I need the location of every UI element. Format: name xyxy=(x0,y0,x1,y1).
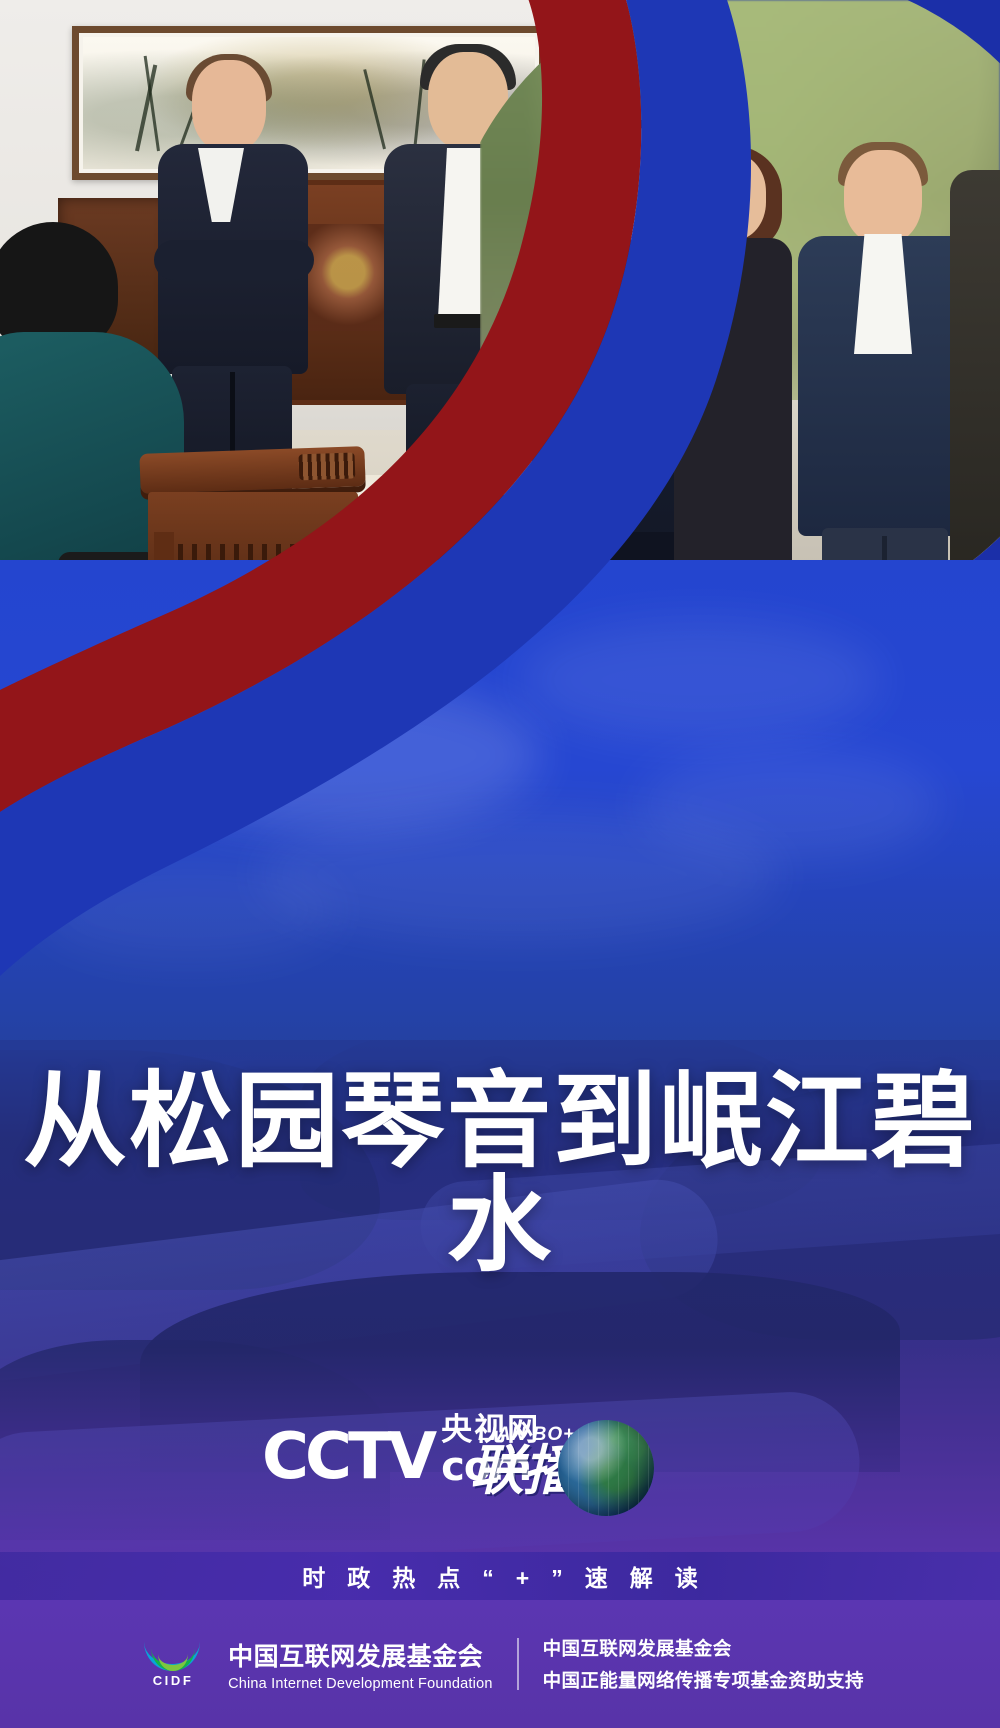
footer-bar: CIDF 中国互联网发展基金会 China Internet Developme… xyxy=(0,1600,1000,1728)
guqin-tuning-pegs xyxy=(298,452,355,480)
globe-meridian-lines xyxy=(558,1420,654,1516)
page-title: 从松园琴音到岷江碧水 xyxy=(0,1070,1000,1278)
lianbo-plus-logo[interactable]: LIAN BO+ 联播+ xyxy=(470,1408,650,1524)
cloud xyxy=(40,860,340,960)
cidf-english-name: China Internet Development Foundation xyxy=(228,1676,493,1692)
logo-row: CCTV 央视网 com LIAN BO+ 联播+ xyxy=(0,1398,1000,1534)
cidf-chinese-name: 中国互联网发展基金会 xyxy=(228,1637,493,1673)
cctv-wordmark: CCTV xyxy=(262,1429,433,1487)
briefcase xyxy=(532,428,584,514)
head xyxy=(594,128,672,222)
cidf-arc-icon xyxy=(142,1641,204,1671)
cidf-abbr: CIDF xyxy=(153,1673,194,1688)
cloud xyxy=(520,620,880,740)
head xyxy=(844,150,922,244)
cidf-names: 中国互联网发展基金会 China Internet Development Fo… xyxy=(228,1637,493,1692)
head xyxy=(192,60,266,152)
cidf-logo: CIDF xyxy=(136,1641,210,1688)
guqin-instrument xyxy=(139,446,365,494)
tagline-text: 时政热点“+”速解读 xyxy=(280,1559,719,1593)
globe-icon xyxy=(558,1420,654,1516)
poster-root: 从松园琴音到岷江碧水 CCTV 央视网 com LIAN BO+ 联播+ 时政热… xyxy=(0,0,1000,1728)
sponsor-line-1: 中国互联网发展基金会 xyxy=(543,1635,864,1661)
footer-divider xyxy=(517,1638,519,1690)
dark-suit xyxy=(674,238,792,568)
cloud xyxy=(120,680,540,830)
tagline-strip: 时政热点“+”速解读 xyxy=(0,1552,1000,1600)
figure-interpreter-walking xyxy=(668,154,808,594)
head xyxy=(696,154,766,240)
sponsor-line-2: 中国正能量网络传播专项基金资助支持 xyxy=(543,1667,864,1693)
sponsor-credit: 中国互联网发展基金会 中国正能量网络传播专项基金资助支持 xyxy=(543,1635,864,1693)
cloud xyxy=(640,750,940,860)
